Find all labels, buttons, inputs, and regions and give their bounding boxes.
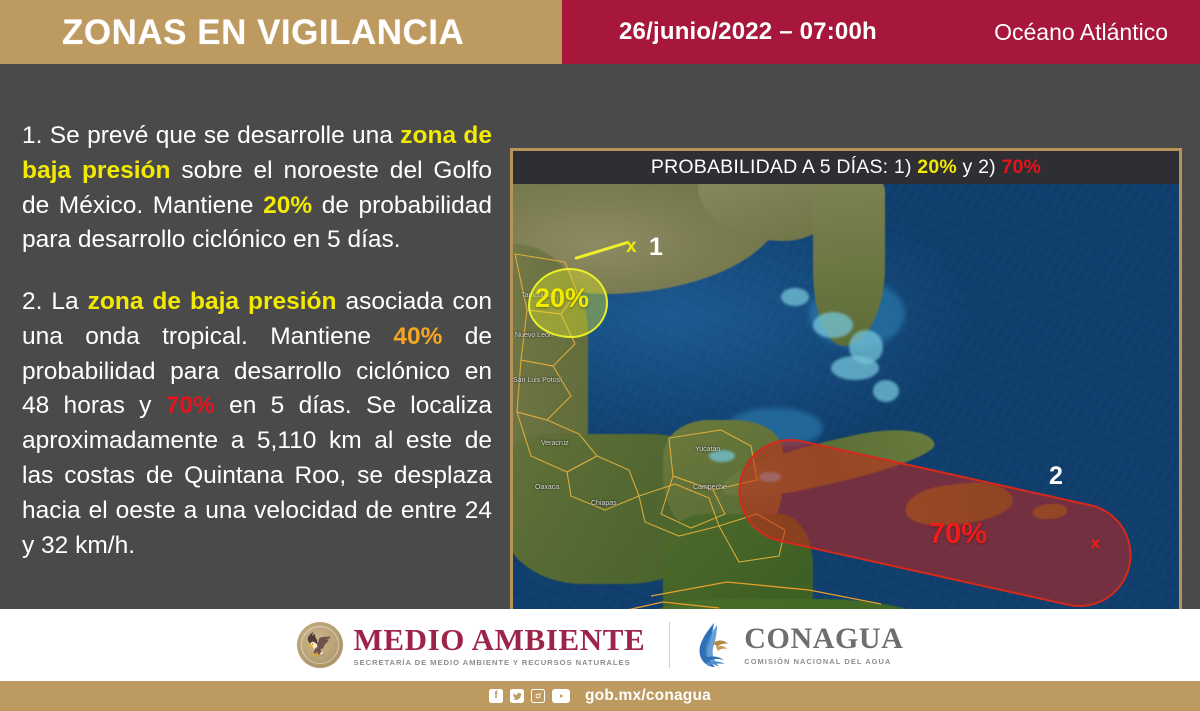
cay-bahamas-bank-4 <box>873 380 899 402</box>
conagua-logo[interactable]: CONAGUA COMISIÓN NACIONAL DEL AGUA <box>694 621 903 669</box>
logo-divider <box>669 622 670 668</box>
p2-highlight-low-pressure: zona de baja presión <box>88 288 337 315</box>
bulletin-paragraph-2: 2. La zona de baja presión asociada con … <box>22 285 492 563</box>
conagua-subtitle: COMISIÓN NACIONAL DEL AGUA <box>744 658 903 665</box>
state-label: Nuevo León <box>515 332 553 339</box>
eagle-glyph-icon: 🦅 <box>297 634 343 656</box>
semarnat-logo[interactable]: 🦅 MEDIO AMBIENTE SECRETARÍA DE MEDIO AMB… <box>297 622 646 668</box>
infographic-page: ZONAS EN VIGILANCIA 26/junio/2022 – 07:0… <box>0 0 1200 711</box>
p1-highlight-probability: 20% <box>263 192 312 219</box>
state-label: Veracruz <box>541 440 569 447</box>
semarnat-title: MEDIO AMBIENTE <box>354 624 646 655</box>
map-caption-band: PROBABILIDAD A 5 DÍAS: 1) 20% y 2) 70% <box>513 151 1179 184</box>
p2-highlight-probability-48h: 40% <box>393 323 442 350</box>
social-bar: f gob.mx/conagua <box>0 681 1200 711</box>
bulletin-paragraph-1: 1. Se prevé que se desarrolle una zona d… <box>22 119 492 258</box>
mexico-coat-of-arms-icon: 🦅 <box>297 622 343 668</box>
body-area: 1. Se prevé que se desarrolle una zona d… <box>0 64 1200 609</box>
website-url[interactable]: gob.mx/conagua <box>585 687 711 705</box>
zone-2-probability-label: 70% <box>929 518 987 551</box>
cay-bahamas-bank-1 <box>813 312 853 338</box>
p2-highlight-probability-5d: 70% <box>166 392 215 419</box>
instagram-icon[interactable] <box>531 689 545 703</box>
caption-probability-1: 20% <box>917 156 957 178</box>
semarnat-subtitle: SECRETARÍA DE MEDIO AMBIENTE Y RECURSOS … <box>354 659 646 667</box>
footer-logo-bar: 🦅 MEDIO AMBIENTE SECRETARÍA DE MEDIO AMB… <box>0 609 1200 681</box>
header-maroon-block: 26/junio/2022 – 07:00h Océano Atlántico <box>562 0 1200 64</box>
header-datetime: 26/junio/2022 – 07:00h <box>562 18 877 46</box>
zone-1-probability-label: 20% <box>535 283 589 314</box>
cay-bahamas-bank-3 <box>831 356 879 380</box>
conagua-title: CONAGUA <box>744 624 903 654</box>
facebook-icon[interactable]: f <box>489 689 503 703</box>
zone-2-center-x-marker-icon: x <box>1091 536 1100 552</box>
zone-1-center-x-marker-icon: x <box>626 237 637 256</box>
satellite-map[interactable]: Tamaulipas Nuevo León San Luis Potosí Ve… <box>513 184 1179 653</box>
caption-middle: y 2) <box>957 156 1002 178</box>
caption-probability-2: 70% <box>1001 156 1041 178</box>
state-label: Yucatán <box>695 446 720 453</box>
p1-seg-1: 1. Se prevé que se desarrolle una <box>22 122 400 149</box>
map-panel[interactable]: PROBABILIDAD A 5 DÍAS: 1) 20% y 2) 70% <box>510 148 1182 656</box>
page-title: ZONAS EN VIGILANCIA <box>0 15 464 50</box>
header-bar: ZONAS EN VIGILANCIA 26/junio/2022 – 07:0… <box>0 0 1200 64</box>
zone-1-number-label: 1 <box>649 235 663 260</box>
header-gold-block: ZONAS EN VIGILANCIA <box>0 0 562 64</box>
header-basin-label: Océano Atlántico <box>994 19 1168 46</box>
state-label: San Luis Potosí <box>513 377 562 384</box>
text-panel: 1. Se prevé que se desarrolle una zona d… <box>22 119 492 563</box>
youtube-icon[interactable] <box>552 689 570 703</box>
state-label: Campeche <box>693 484 727 491</box>
conagua-wordmark: CONAGUA COMISIÓN NACIONAL DEL AGUA <box>744 624 903 665</box>
p2-seg-1: 2. La <box>22 288 88 315</box>
map-caption: PROBABILIDAD A 5 DÍAS: 1) 20% y 2) 70% <box>651 156 1041 179</box>
state-label: Oaxaca <box>535 484 559 491</box>
cay-florida-keys <box>781 288 809 306</box>
caption-prefix: PROBABILIDAD A 5 DÍAS: 1) <box>651 156 917 178</box>
conagua-water-drop-eagle-icon <box>694 621 734 669</box>
semarnat-wordmark: MEDIO AMBIENTE SECRETARÍA DE MEDIO AMBIE… <box>354 624 646 667</box>
zone-2-number-label: 2 <box>1049 464 1063 489</box>
state-label: Chiapas <box>591 500 617 507</box>
twitter-icon[interactable] <box>510 689 524 703</box>
